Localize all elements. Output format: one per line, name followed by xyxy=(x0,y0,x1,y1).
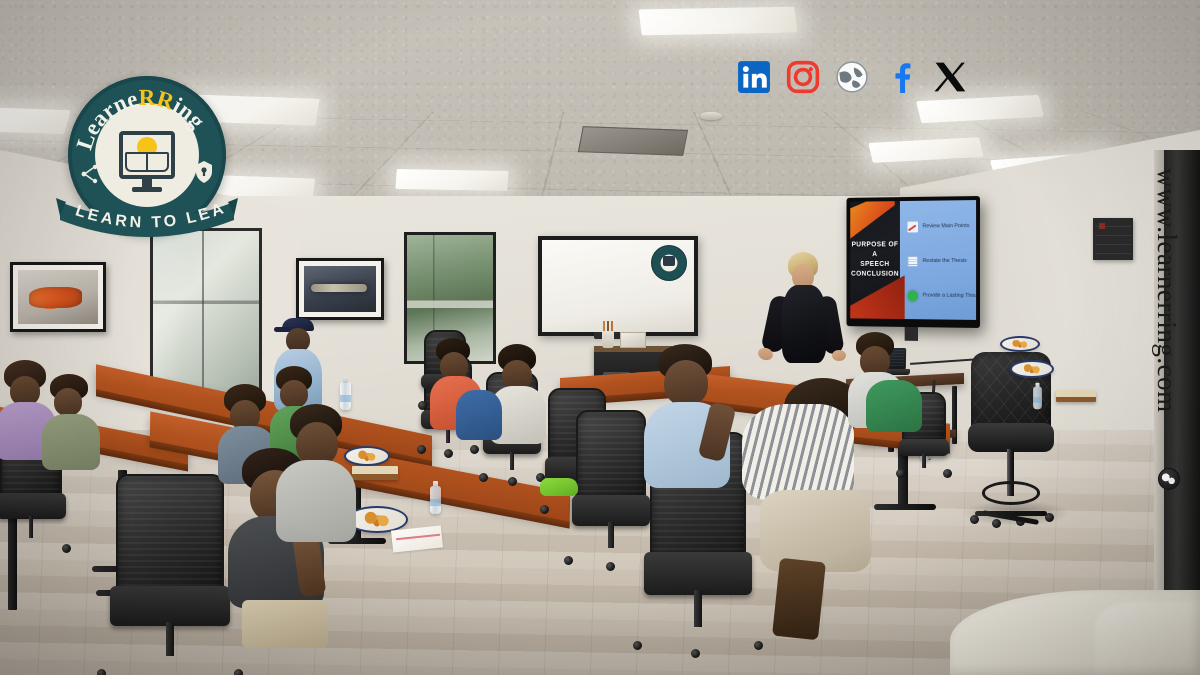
water-bottle xyxy=(1033,387,1042,409)
network-node-icon xyxy=(80,162,100,186)
slide-bullet-label: Provide a Lasting Thought xyxy=(923,293,976,300)
presenter-torso xyxy=(782,285,826,363)
student-striped-top xyxy=(742,404,854,500)
sneakers xyxy=(540,478,578,496)
student-head xyxy=(664,360,708,406)
table-foot xyxy=(874,504,936,510)
slide-bullet-panel: Review Main Points Restate the Thesis Pr… xyxy=(900,200,976,320)
linkedin-icon[interactable] xyxy=(735,58,773,96)
display-screen: PURPOSE OF A SPEECH CONCLUSION Review Ma… xyxy=(850,200,976,320)
slide-bullet: Provide a Lasting Thought xyxy=(907,291,970,302)
book xyxy=(1056,390,1096,402)
student xyxy=(456,352,502,436)
book xyxy=(352,466,398,480)
framed-certificate xyxy=(1093,218,1133,260)
smoke-detector xyxy=(700,112,722,120)
slide-title-panel: PURPOSE OF A SPEECH CONCLUSION xyxy=(850,201,900,319)
marker-cup xyxy=(602,330,614,348)
paper-plate xyxy=(1010,360,1054,378)
facebook-icon[interactable] xyxy=(882,58,920,96)
student xyxy=(646,344,730,504)
student xyxy=(46,374,100,462)
student-shorts xyxy=(760,490,870,572)
shield-icon xyxy=(194,160,214,184)
classroom-photo: PURPOSE OF A SPEECH CONCLUSION Review Ma… xyxy=(0,0,1200,675)
helicopter-photo xyxy=(10,262,106,332)
globe-icon[interactable] xyxy=(833,58,871,96)
student-head xyxy=(54,388,82,416)
mesh-task-chair xyxy=(116,474,224,674)
osprey-photo xyxy=(296,258,384,320)
ceiling-light-panel xyxy=(0,106,71,134)
learnerring-logo: LearneRRing xyxy=(68,76,226,234)
ceiling-light-panel xyxy=(639,7,798,36)
slide-bullet: Restate the Thesis xyxy=(907,256,970,267)
watermark-globe-icon xyxy=(1158,468,1180,490)
instagram-icon[interactable] xyxy=(784,58,822,96)
website-watermark: www.learnerring.com xyxy=(1151,168,1182,413)
chart-icon xyxy=(907,222,917,233)
whiteboard-logo-sticker xyxy=(651,245,687,281)
social-icon-bar xyxy=(735,58,969,96)
student-legs xyxy=(242,600,328,648)
student-torso xyxy=(276,460,356,542)
student xyxy=(276,404,356,554)
student-torso xyxy=(456,390,502,440)
student xyxy=(866,338,922,424)
slide-bullet: Review Main Points xyxy=(907,221,970,232)
green-dot-icon xyxy=(907,291,917,302)
open-book-icon xyxy=(125,152,169,172)
logo-banner: LEARN TO LEAD xyxy=(56,192,238,238)
slide-bullet-label: Restate the Thesis xyxy=(923,258,967,265)
slide-bullet-label: Review Main Points xyxy=(923,223,970,230)
student-torso xyxy=(866,380,922,432)
slide-title: PURPOSE OF A SPEECH CONCLUSION xyxy=(850,240,900,280)
mesh-task-chair xyxy=(576,410,646,562)
water-bottle xyxy=(430,486,441,514)
leather-drafting-chair xyxy=(968,352,1054,522)
presenter-right-hand xyxy=(832,350,846,361)
student-leg xyxy=(772,558,826,640)
white-cloth-fold xyxy=(1092,600,1200,675)
paper-plate xyxy=(1000,336,1040,352)
presenter xyxy=(780,252,828,372)
x-icon[interactable] xyxy=(931,58,969,96)
whiteboard xyxy=(538,236,698,336)
monitor-icon xyxy=(119,131,175,179)
tissue-box xyxy=(620,332,646,348)
wall-display: PURPOSE OF A SPEECH CONCLUSION Review Ma… xyxy=(847,196,980,328)
student-torso xyxy=(42,414,100,470)
chair-shadow xyxy=(962,500,1070,526)
ceiling-air-vent xyxy=(578,126,688,156)
ceiling-light-panel xyxy=(395,169,508,191)
document-icon xyxy=(907,256,917,267)
